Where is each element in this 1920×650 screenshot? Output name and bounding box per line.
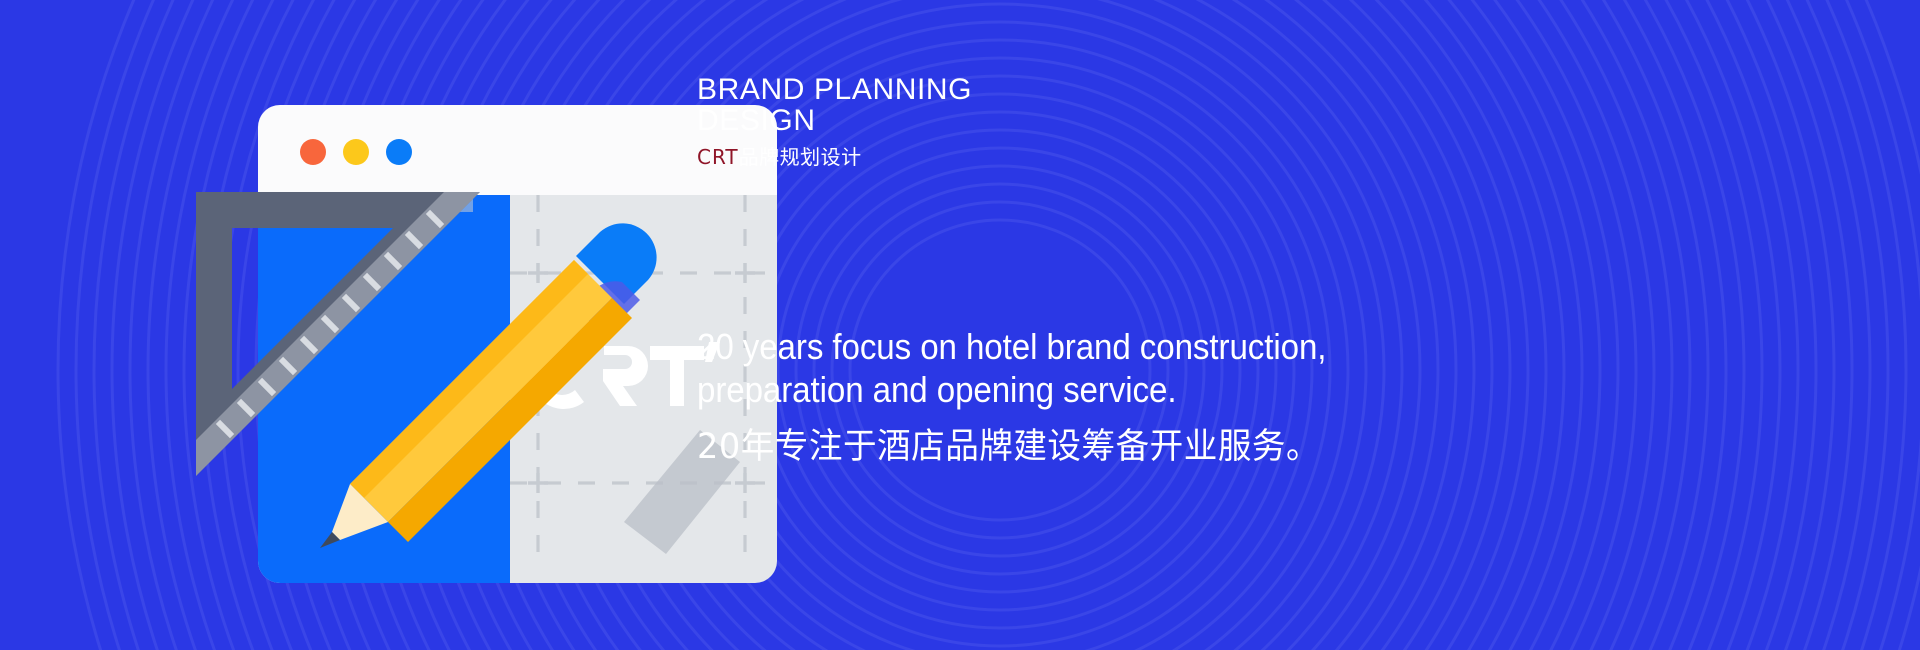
maximize-dot xyxy=(386,139,412,165)
tagline-block: 20 years focus on hotel brand constructi… xyxy=(697,325,1797,469)
brand-code-text: CRT xyxy=(697,145,739,169)
heading-subtitle: CRT品牌规划设计 xyxy=(697,145,1397,169)
banner-copy: BRAND PLANNING DESIGN CRT品牌规划设计 20 years… xyxy=(697,0,1847,650)
close-dot xyxy=(300,139,326,165)
heading-block: BRAND PLANNING DESIGN CRT品牌规划设计 xyxy=(697,74,1397,169)
brand-banner: BRAND PLANNING DESIGN CRT品牌规划设计 20 years… xyxy=(0,0,1920,650)
heading-title-en: BRAND PLANNING DESIGN xyxy=(697,74,1397,136)
tagline-en: 20 years focus on hotel brand constructi… xyxy=(697,325,1709,411)
minimize-dot xyxy=(343,139,369,165)
tagline-cn: 20年专注于酒店品牌建设筹备开业服务。 xyxy=(697,425,1753,469)
heading-title-cn: 品牌规划设计 xyxy=(739,145,862,169)
